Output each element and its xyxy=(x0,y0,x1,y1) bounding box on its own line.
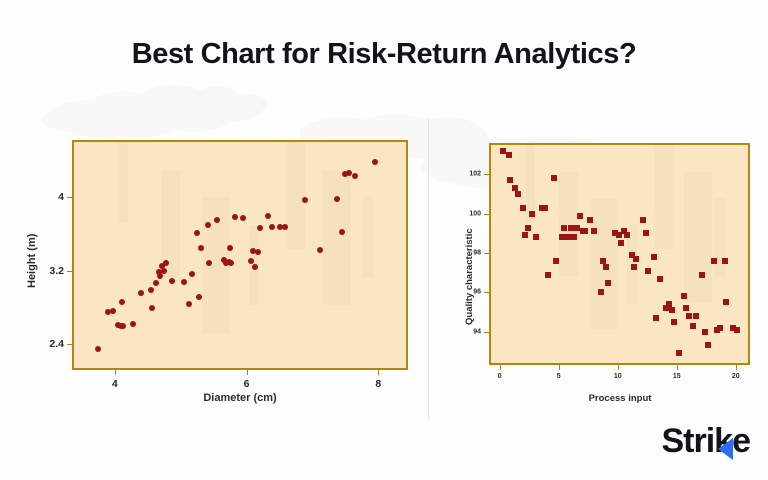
data-point xyxy=(545,272,551,278)
data-point xyxy=(643,230,649,236)
x-axis-label: Process input xyxy=(589,393,652,404)
data-point xyxy=(138,290,144,296)
data-point xyxy=(624,232,630,238)
x-tick-label: 0 xyxy=(498,373,502,380)
data-point xyxy=(181,279,187,285)
data-point xyxy=(651,254,657,260)
data-point xyxy=(686,313,692,319)
plot-watermark-band xyxy=(715,198,725,276)
plot-watermark-band xyxy=(363,197,373,278)
x-tick-mark xyxy=(618,365,619,370)
data-point xyxy=(227,245,233,251)
y-tick-label: 100 xyxy=(449,210,481,217)
data-points-layer xyxy=(74,142,406,368)
data-point xyxy=(269,224,275,230)
data-point xyxy=(110,308,116,314)
data-point xyxy=(702,329,708,335)
data-point xyxy=(598,289,604,295)
data-point xyxy=(542,205,548,211)
x-axis-label: Diameter (cm) xyxy=(203,392,276,404)
data-points-layer xyxy=(491,145,748,363)
data-point xyxy=(699,272,705,278)
data-point xyxy=(631,264,637,270)
x-tick-label: 6 xyxy=(244,378,250,390)
plot-watermark-band xyxy=(684,172,712,303)
x-tick-mark xyxy=(677,365,678,370)
data-point xyxy=(95,346,101,352)
y-tick-mark xyxy=(67,271,72,272)
data-point xyxy=(723,299,729,305)
data-point xyxy=(571,234,577,240)
x-tick-mark xyxy=(500,365,501,370)
data-point xyxy=(640,217,646,223)
data-point xyxy=(603,264,609,270)
x-tick-label: 10 xyxy=(614,373,622,380)
y-tick-mark xyxy=(484,253,489,254)
data-point xyxy=(520,205,526,211)
data-point xyxy=(248,258,254,264)
data-point xyxy=(711,258,717,264)
data-point xyxy=(169,278,175,284)
y-tick-mark xyxy=(484,292,489,293)
x-tick-mark xyxy=(736,365,737,370)
data-point xyxy=(653,315,659,321)
plot-watermark-band xyxy=(655,145,674,249)
y-axis-label: Height (m) xyxy=(26,234,38,288)
data-point xyxy=(317,247,323,253)
data-point xyxy=(734,327,740,333)
data-point xyxy=(681,293,687,299)
data-point xyxy=(265,213,271,219)
data-point xyxy=(657,276,663,282)
data-point xyxy=(533,234,539,240)
page-title: Best Chart for Risk-Return Analytics? xyxy=(0,38,768,71)
data-point xyxy=(587,217,593,223)
data-point xyxy=(671,319,677,325)
data-point xyxy=(186,301,192,307)
x-tick-mark xyxy=(247,370,248,375)
data-point xyxy=(194,230,200,236)
x-tick-label: 8 xyxy=(375,378,381,390)
data-point xyxy=(372,159,378,165)
poster-canvas: Best Chart for Risk-Return Analytics? 46… xyxy=(0,0,768,480)
data-point xyxy=(645,268,651,274)
data-point xyxy=(591,228,597,234)
data-point xyxy=(302,197,308,203)
y-tick-label: 94 xyxy=(449,328,481,335)
data-point xyxy=(618,240,624,246)
data-point xyxy=(690,323,696,329)
data-point xyxy=(346,170,352,176)
data-point xyxy=(633,256,639,262)
data-point xyxy=(525,225,531,231)
data-point xyxy=(522,232,528,238)
data-point xyxy=(257,225,263,231)
y-tick-mark xyxy=(484,214,489,215)
data-point xyxy=(582,228,588,234)
y-tick-label: 102 xyxy=(449,171,481,178)
data-point xyxy=(553,258,559,264)
x-tick-label: 15 xyxy=(673,373,681,380)
data-point xyxy=(255,249,261,255)
x-tick-mark xyxy=(378,370,379,375)
data-point xyxy=(722,258,728,264)
data-point xyxy=(240,215,246,221)
data-point xyxy=(717,325,723,331)
data-point xyxy=(119,299,125,305)
x-tick-label: 4 xyxy=(112,378,118,390)
data-point xyxy=(515,191,521,197)
data-point xyxy=(507,177,513,183)
data-point xyxy=(120,323,126,329)
x-tick-label: 20 xyxy=(732,373,740,380)
data-point xyxy=(232,214,238,220)
y-tick-mark xyxy=(67,197,72,198)
data-point xyxy=(693,313,699,319)
y-tick-mark xyxy=(67,344,72,345)
plot-watermark-band xyxy=(118,142,128,223)
scatter-chart-process-quality: 05101520949698100102 Process input Quali… xyxy=(450,110,768,420)
x-tick-label: 5 xyxy=(557,373,561,380)
data-point xyxy=(605,280,611,286)
data-point xyxy=(198,245,204,251)
y-tick-label: 2.4 xyxy=(32,338,64,350)
data-point xyxy=(561,225,567,231)
data-point xyxy=(205,222,211,228)
scatter-chart-diameter-height: 4682.43.24 Diameter (cm) Height (m) xyxy=(0,110,428,420)
x-tick-mark xyxy=(115,370,116,375)
data-point xyxy=(352,173,358,179)
data-point xyxy=(551,175,557,181)
data-point xyxy=(196,294,202,300)
y-tick-mark xyxy=(484,174,489,175)
data-point xyxy=(228,260,234,266)
data-point xyxy=(148,287,154,293)
data-point xyxy=(577,213,583,219)
y-axis-label: Quality characteristic xyxy=(464,228,475,325)
data-point xyxy=(130,321,136,327)
data-point xyxy=(529,211,535,217)
data-point xyxy=(669,307,675,313)
strike-logo: Strike xyxy=(662,420,751,462)
plot-area xyxy=(72,140,408,370)
logo-text: Strike xyxy=(662,424,751,458)
plot-watermark-band xyxy=(286,142,305,250)
data-point xyxy=(676,350,682,356)
data-point xyxy=(683,305,689,311)
data-point xyxy=(506,152,512,158)
x-tick-mark xyxy=(559,365,560,370)
data-point xyxy=(334,196,340,202)
y-tick-mark xyxy=(484,332,489,333)
plot-watermark-band xyxy=(323,170,351,306)
chart-divider xyxy=(428,118,429,420)
data-point xyxy=(153,280,159,286)
plot-area xyxy=(489,143,750,365)
data-point xyxy=(149,305,155,311)
blue-left-arrow-icon xyxy=(718,438,733,460)
data-point xyxy=(705,342,711,348)
y-tick-label: 4 xyxy=(32,191,64,203)
data-point xyxy=(189,271,195,277)
